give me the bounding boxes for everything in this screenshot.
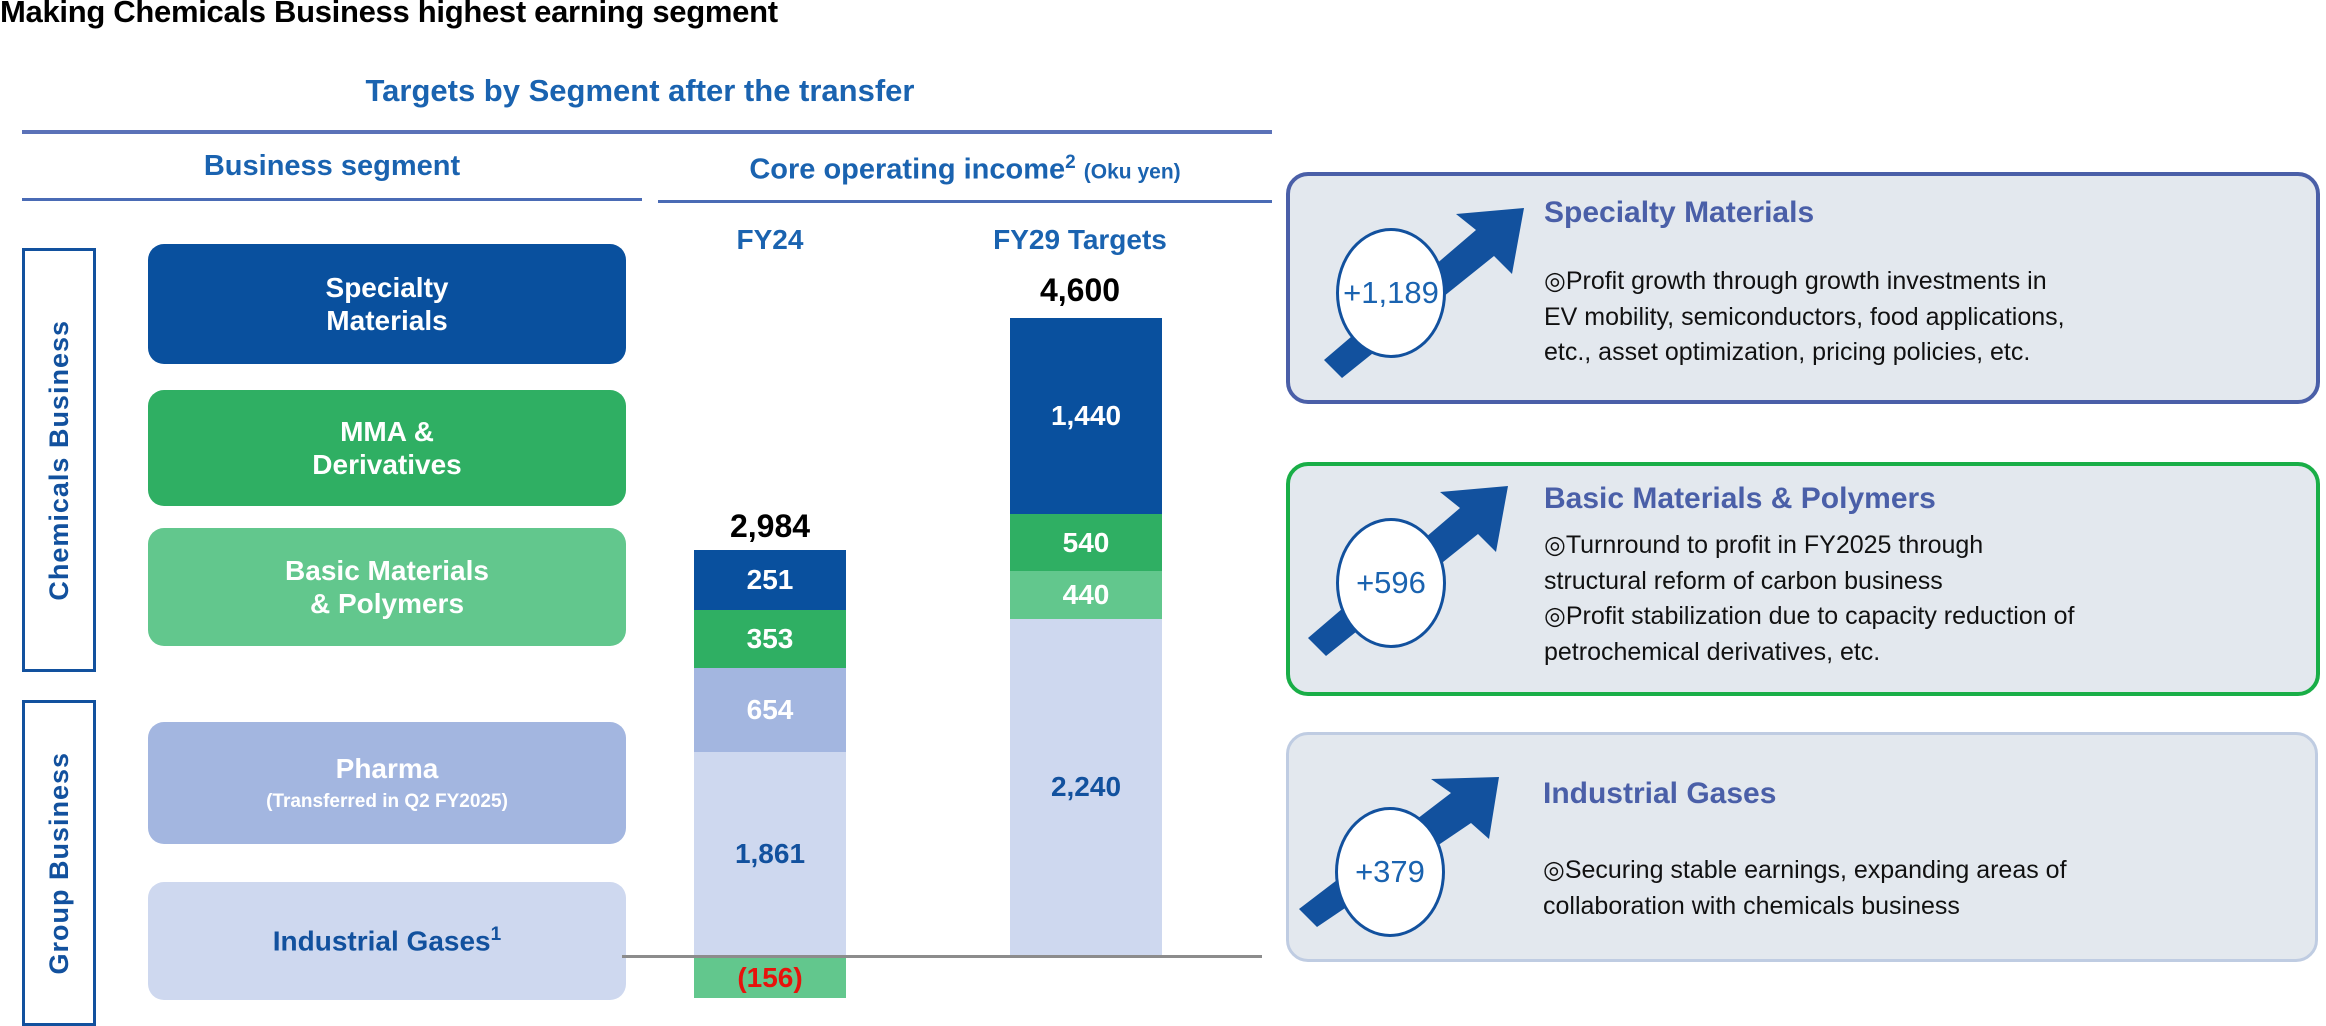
column-header-income-text: Core operating income [749,154,1065,186]
column-divider-business-segment [22,198,642,201]
card-body-basic-materials-polymers: ◎Turnround to profit in FY2025 through s… [1544,528,2304,670]
delta-value: +1,189 [1343,275,1439,311]
delta-value: +379 [1355,854,1425,890]
delta-badge-basic-materials-polymers: +596 [1336,518,1446,648]
page-title: Making Chemicals Business highest earnin… [0,0,1400,30]
card-body-specialty-materials: ◎Profit growth through growth investment… [1544,264,2294,371]
bar-segment-fy29-basic-materials-polymers[interactable]: 440 [1010,571,1162,619]
segment-pill-label-line1: Pharma [336,752,439,785]
detail-card-specialty-materials[interactable]: +1,189 Specialty Materials ◎Profit growt… [1286,172,2320,404]
bar-segment-fy24-mma-derivatives[interactable]: 353 [694,610,846,668]
segment-pill-specialty-materials[interactable]: Specialty Materials [148,244,626,364]
segment-pill-industrial-gases[interactable]: Industrial Gases1 [148,882,626,1000]
bar-segment-fy24-pharma[interactable]: 654 [694,668,846,752]
segment-pill-label-line2: Materials [326,304,447,337]
segment-pill-label-line1: MMA & [340,415,434,448]
group-label-chemicals-business: Chemicals Business [22,248,96,672]
segment-pill-label-text: Industrial Gases [273,926,491,957]
group-label-chemicals-text: Chemicals Business [44,320,75,601]
card-body-line: structural reform of carbon business [1544,564,2304,600]
header-divider-top [22,130,1272,134]
card-body-line: petrochemical derivatives, etc. [1544,635,2304,671]
card-body-industrial-gases: ◎Securing stable earnings, expanding are… [1543,853,2303,924]
delta-value: +596 [1356,565,1426,601]
bar-segment-fy24-basic-materials-polymers[interactable]: (156) [694,958,846,998]
chart-category-label-fy29: FY29 Targets [910,224,1250,256]
chart-total-fy29: 4,600 [910,272,1250,309]
section-title: Targets by Segment after the transfer [0,73,1280,109]
chart-category-label-fy24: FY24 [640,224,900,256]
segment-pill-label-line2: Derivatives [312,448,461,481]
segment-pill-label-line2: & Polymers [310,587,464,620]
delta-badge-industrial-gases: +379 [1335,807,1445,937]
bar-segment-fy29-industrial-gases[interactable]: 2,240 [1010,619,1162,955]
column-divider-core-operating-income [658,200,1272,203]
column-header-business-segment: Business segment [22,150,642,183]
stacked-bar-chart: FY24 FY29 Targets 2,984 4,600 251 353 65… [640,210,1280,1023]
segment-pill-sublabel: (Transferred in Q2 FY2025) [266,791,508,813]
segment-pill-label-line1: Basic Materials [285,554,489,587]
delta-badge-specialty-materials: +1,189 [1336,228,1446,358]
detail-card-basic-materials-polymers[interactable]: +596 Basic Materials & Polymers ◎Turnrou… [1286,462,2320,696]
segment-pill-label-line1: Specialty [326,271,449,304]
segment-pill-basic-materials-polymers[interactable]: Basic Materials & Polymers [148,528,626,646]
card-body-line: collaboration with chemicals business [1543,889,2303,925]
segment-pill-mma-derivatives[interactable]: MMA & Derivatives [148,390,626,506]
column-header-core-operating-income: Core operating income2 (Oku yen) [658,152,1272,187]
bar-segment-fy29-specialty-materials[interactable]: 1,440 [1010,318,1162,514]
bar-segment-fy29-mma-derivatives[interactable]: 540 [1010,514,1162,571]
card-body-line: EV mobility, semiconductors, food applic… [1544,300,2294,336]
footnote-marker-2: 2 [1065,152,1076,173]
card-body-line: ◎Securing stable earnings, expanding are… [1543,853,2303,889]
chart-zero-axis-line [622,955,1262,958]
segment-pill-label-line1: Industrial Gases1 [273,924,501,957]
group-label-group-business: Group Business [22,700,96,1026]
income-unit-label: (Oku yen) [1084,161,1181,184]
chart-total-fy24: 2,984 [640,508,900,545]
card-title-specialty-materials: Specialty Materials [1544,196,1814,230]
card-body-line: ◎Profit stabilization due to capacity re… [1544,599,2304,635]
group-label-group-text: Group Business [44,752,75,975]
card-title-industrial-gases: Industrial Gases [1543,777,1776,811]
card-title-basic-materials-polymers: Basic Materials & Polymers [1544,482,1936,516]
card-body-line: ◎Profit growth through growth investment… [1544,264,2294,300]
segment-pill-pharma[interactable]: Pharma (Transferred in Q2 FY2025) [148,722,626,844]
footnote-marker-1: 1 [491,924,502,945]
bar-segment-fy24-industrial-gases[interactable]: 1,861 [694,752,846,955]
detail-card-industrial-gases[interactable]: +379 Industrial Gases ◎Securing stable e… [1286,732,2318,962]
card-body-line: etc., asset optimization, pricing polici… [1544,335,2294,371]
card-body-line: ◎Turnround to profit in FY2025 through [1544,528,2304,564]
bar-segment-fy24-specialty-materials[interactable]: 251 [694,550,846,610]
